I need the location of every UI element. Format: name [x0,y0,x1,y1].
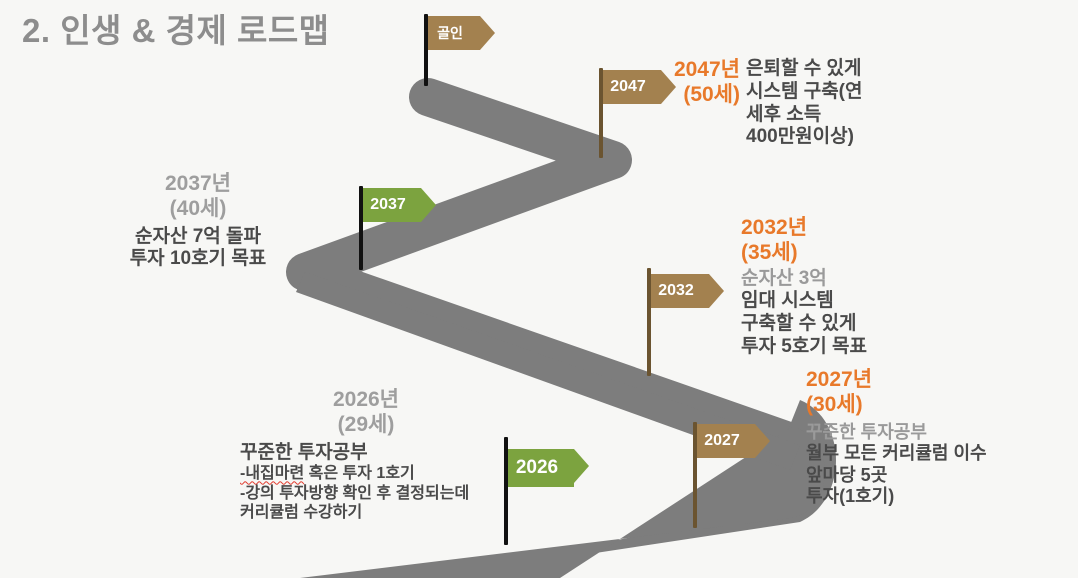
year-label-2032: 2032년(35세) [741,216,961,266]
goal-flag-label: 골인 [437,23,471,43]
flag-banner-2027: 2027 [697,424,755,458]
desc-line: 순자산 3억 [741,268,961,291]
flag-banner-2047: 2047 [603,70,661,104]
flag-banner-2032: 2032 [651,274,709,308]
callout-2032: 2032년(35세) 순자산 3억 임대 시스템 구축할 수 있게 투자 5호기… [741,216,961,359]
desc-line: 시스템 구축(연 [746,81,896,104]
desc-line: -강의 투자방향 확인 후 결정되는데 [236,484,496,503]
flag-label-2037: 2037 [370,196,414,214]
desc-line: 세후 소득 [746,104,896,127]
flag-label-2047: 2047 [610,78,654,96]
desc-2047: 은퇴할 수 있게 시스템 구축(연 세후 소득 400만원이상) [746,58,896,149]
flag-banner-2026: 2026 [508,449,574,487]
spellcheck-word: -내집마련 [240,465,304,482]
desc-line: 꾸준한 투자공부 [236,442,496,465]
desc-line: 임대 시스템 [741,290,961,313]
callout-2027: 2027년(30세) 꾸준한 투자공부 월부 모든 커리큘럼 이수 앞마당 5곳… [806,368,1056,508]
flag-banner-2037: 2037 [363,188,421,222]
year-label-2027: 2027년(30세) [806,368,1056,418]
desc-line: 투자(1호기) [806,486,1056,508]
flag-label-2032: 2032 [658,282,702,300]
desc-line: 커리큘럼 수강하기 [236,503,496,522]
desc-line: 꾸준한 투자공부 [806,422,1056,444]
desc-line: 400만원이상) [746,126,896,149]
desc-line: 구축할 수 있게 [741,313,961,336]
callout-2026: 2026년(29세) 꾸준한 투자공부 -내집마련 혹은 투자 1호기 -강의 … [236,388,496,522]
desc-line: 월부 모든 커리큘럼 이수 [806,443,1056,465]
roadmap-slide: 2. 인생 & 경제 로드맵 골인 2047 2047년(50세) 은퇴할 수 … [0,0,1078,578]
desc-line-rest: 혹은 투자 1호기 [304,465,415,482]
page-title: 2. 인생 & 경제 로드맵 [22,4,330,52]
flag-label-2027: 2027 [704,432,748,450]
flag-label-2026: 2026 [516,457,566,479]
desc-line-spellchecked: -내집마련 혹은 투자 1호기 [236,464,496,483]
year-label-2047: 2047년(50세) [660,58,740,108]
desc-line: 은퇴할 수 있게 [746,58,896,81]
callout-2037: 2037년(40세) 순자산 7억 돌파 투자 10호기 목표 [62,172,334,271]
desc-line: 앞마당 5곳 [806,465,1056,487]
desc-line: 순자산 7억 돌파 [62,226,334,249]
desc-line: 투자 5호기 목표 [741,336,961,359]
year-label-2026: 2026년(29세) [236,388,496,438]
year-label-2037: 2037년(40세) [62,172,334,222]
desc-line: 투자 10호기 목표 [62,248,334,271]
callout-2047: 2047년(50세) [660,58,740,108]
goal-flag-banner: 골인 [428,16,480,50]
